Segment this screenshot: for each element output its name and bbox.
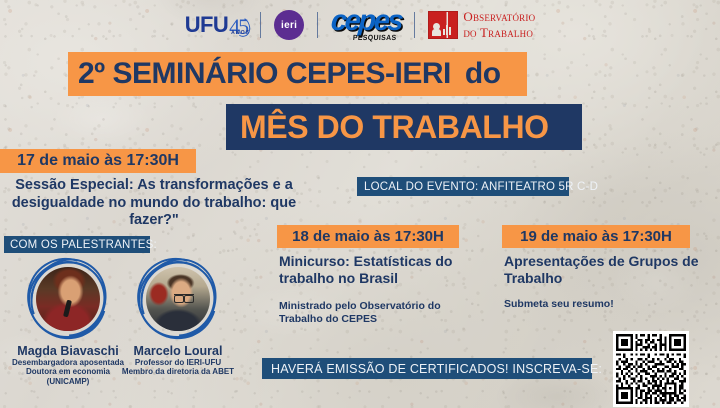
session-subtitle-minicurso: Ministrado pelo Observatório do Trabalho… — [279, 300, 484, 325]
cepes-logo: cepes PESQUISAS — [331, 8, 401, 43]
sponsor-logo-bar: UFU 45 ANOS ieri cepes PESQUISAS — [0, 4, 720, 46]
session-subtitle-apresentacoes: Submeta seu resumo! — [504, 298, 704, 311]
session-title-minicurso: Minicurso: Estatísticas do trabalho no B… — [279, 253, 479, 287]
ieri-wordmark: ieri — [281, 20, 297, 31]
poster-title-line2: MÊS DO TRABALHO — [240, 107, 549, 147]
speaker-photo-frame — [135, 256, 221, 342]
poster-title-line1: 2º SEMINÁRIO CEPES-IERIdo — [78, 55, 501, 93]
speaker-role-line1: Professor do IERI-UFU — [118, 358, 238, 367]
observatorio-line2: do Trabalho — [463, 25, 533, 40]
date-chip-18-maio: 18 de maio às 17:30H — [277, 225, 459, 248]
ufu-anniversary-mark: 45 ANOS — [229, 16, 247, 36]
scribble-ring-icon — [125, 246, 231, 352]
date-chip-19-maio: 19 de maio às 17:30H — [502, 225, 690, 248]
date-chip-17-maio: 17 de maio às 17:30H — [0, 149, 196, 173]
scribble-ring-icon — [15, 246, 121, 352]
observatorio-book-icon — [428, 11, 458, 39]
observatorio-do-trabalho-logo: Observatório do Trabalho — [428, 9, 535, 42]
special-session-description: Sessão Especial: As transformações e a d… — [4, 177, 304, 230]
observatorio-wordmark: Observatório do Trabalho — [463, 9, 535, 42]
event-poster: UFU 45 ANOS ieri cepes PESQUISAS — [0, 0, 720, 408]
cepes-wordmark: cepes — [330, 8, 402, 36]
session-title-apresentacoes: Apresentações de Grupos de Trabalho — [504, 253, 709, 287]
ufu-wordmark: UFU — [185, 14, 228, 36]
logo-divider — [414, 12, 415, 38]
poster-title-highlight: 2º SEMINÁRIO CEPES-IERI — [78, 57, 451, 90]
speakers-list: Magda Biavaschi Desembargadora aposentad… — [8, 256, 248, 406]
speaker-role-line2: Doutora em economia — [8, 367, 128, 376]
logo-divider — [260, 12, 261, 38]
speaker-role-line2: Membro da diretoria da ABET — [118, 367, 238, 376]
logo-divider — [317, 12, 318, 38]
ieri-logo: ieri — [274, 10, 304, 40]
observatorio-line1: Observatório — [463, 9, 535, 24]
speaker-role-line3: (UNICAMP) — [8, 377, 128, 386]
speaker-card-marcelo: Marcelo Loural Professor do IERI-UFU Mem… — [118, 256, 238, 377]
ufu-logo: UFU 45 ANOS — [185, 14, 247, 36]
poster-title-tail: do — [465, 57, 501, 90]
speaker-card-magda: Magda Biavaschi Desembargadora aposentad… — [8, 256, 128, 386]
speaker-name: Magda Biavaschi — [8, 344, 128, 358]
speaker-photo-frame — [25, 256, 111, 342]
qr-code-icon — [616, 334, 686, 404]
venue-chip: LOCAL DO EVENTO: ANFITEATRO 5R C-D — [357, 177, 569, 196]
certificates-chip: HAVERÁ EMISSÃO DE CERTIFICADOS! INSCREVA… — [262, 358, 592, 379]
speaker-role-line1: Desembargadora aposentada — [8, 358, 128, 367]
speakers-label: COM OS PALESTRANTES: — [4, 236, 150, 253]
cepes-subtitle: PESQUISAS — [352, 33, 396, 42]
qr-code[interactable] — [613, 331, 689, 407]
speaker-name: Marcelo Loural — [118, 344, 238, 358]
